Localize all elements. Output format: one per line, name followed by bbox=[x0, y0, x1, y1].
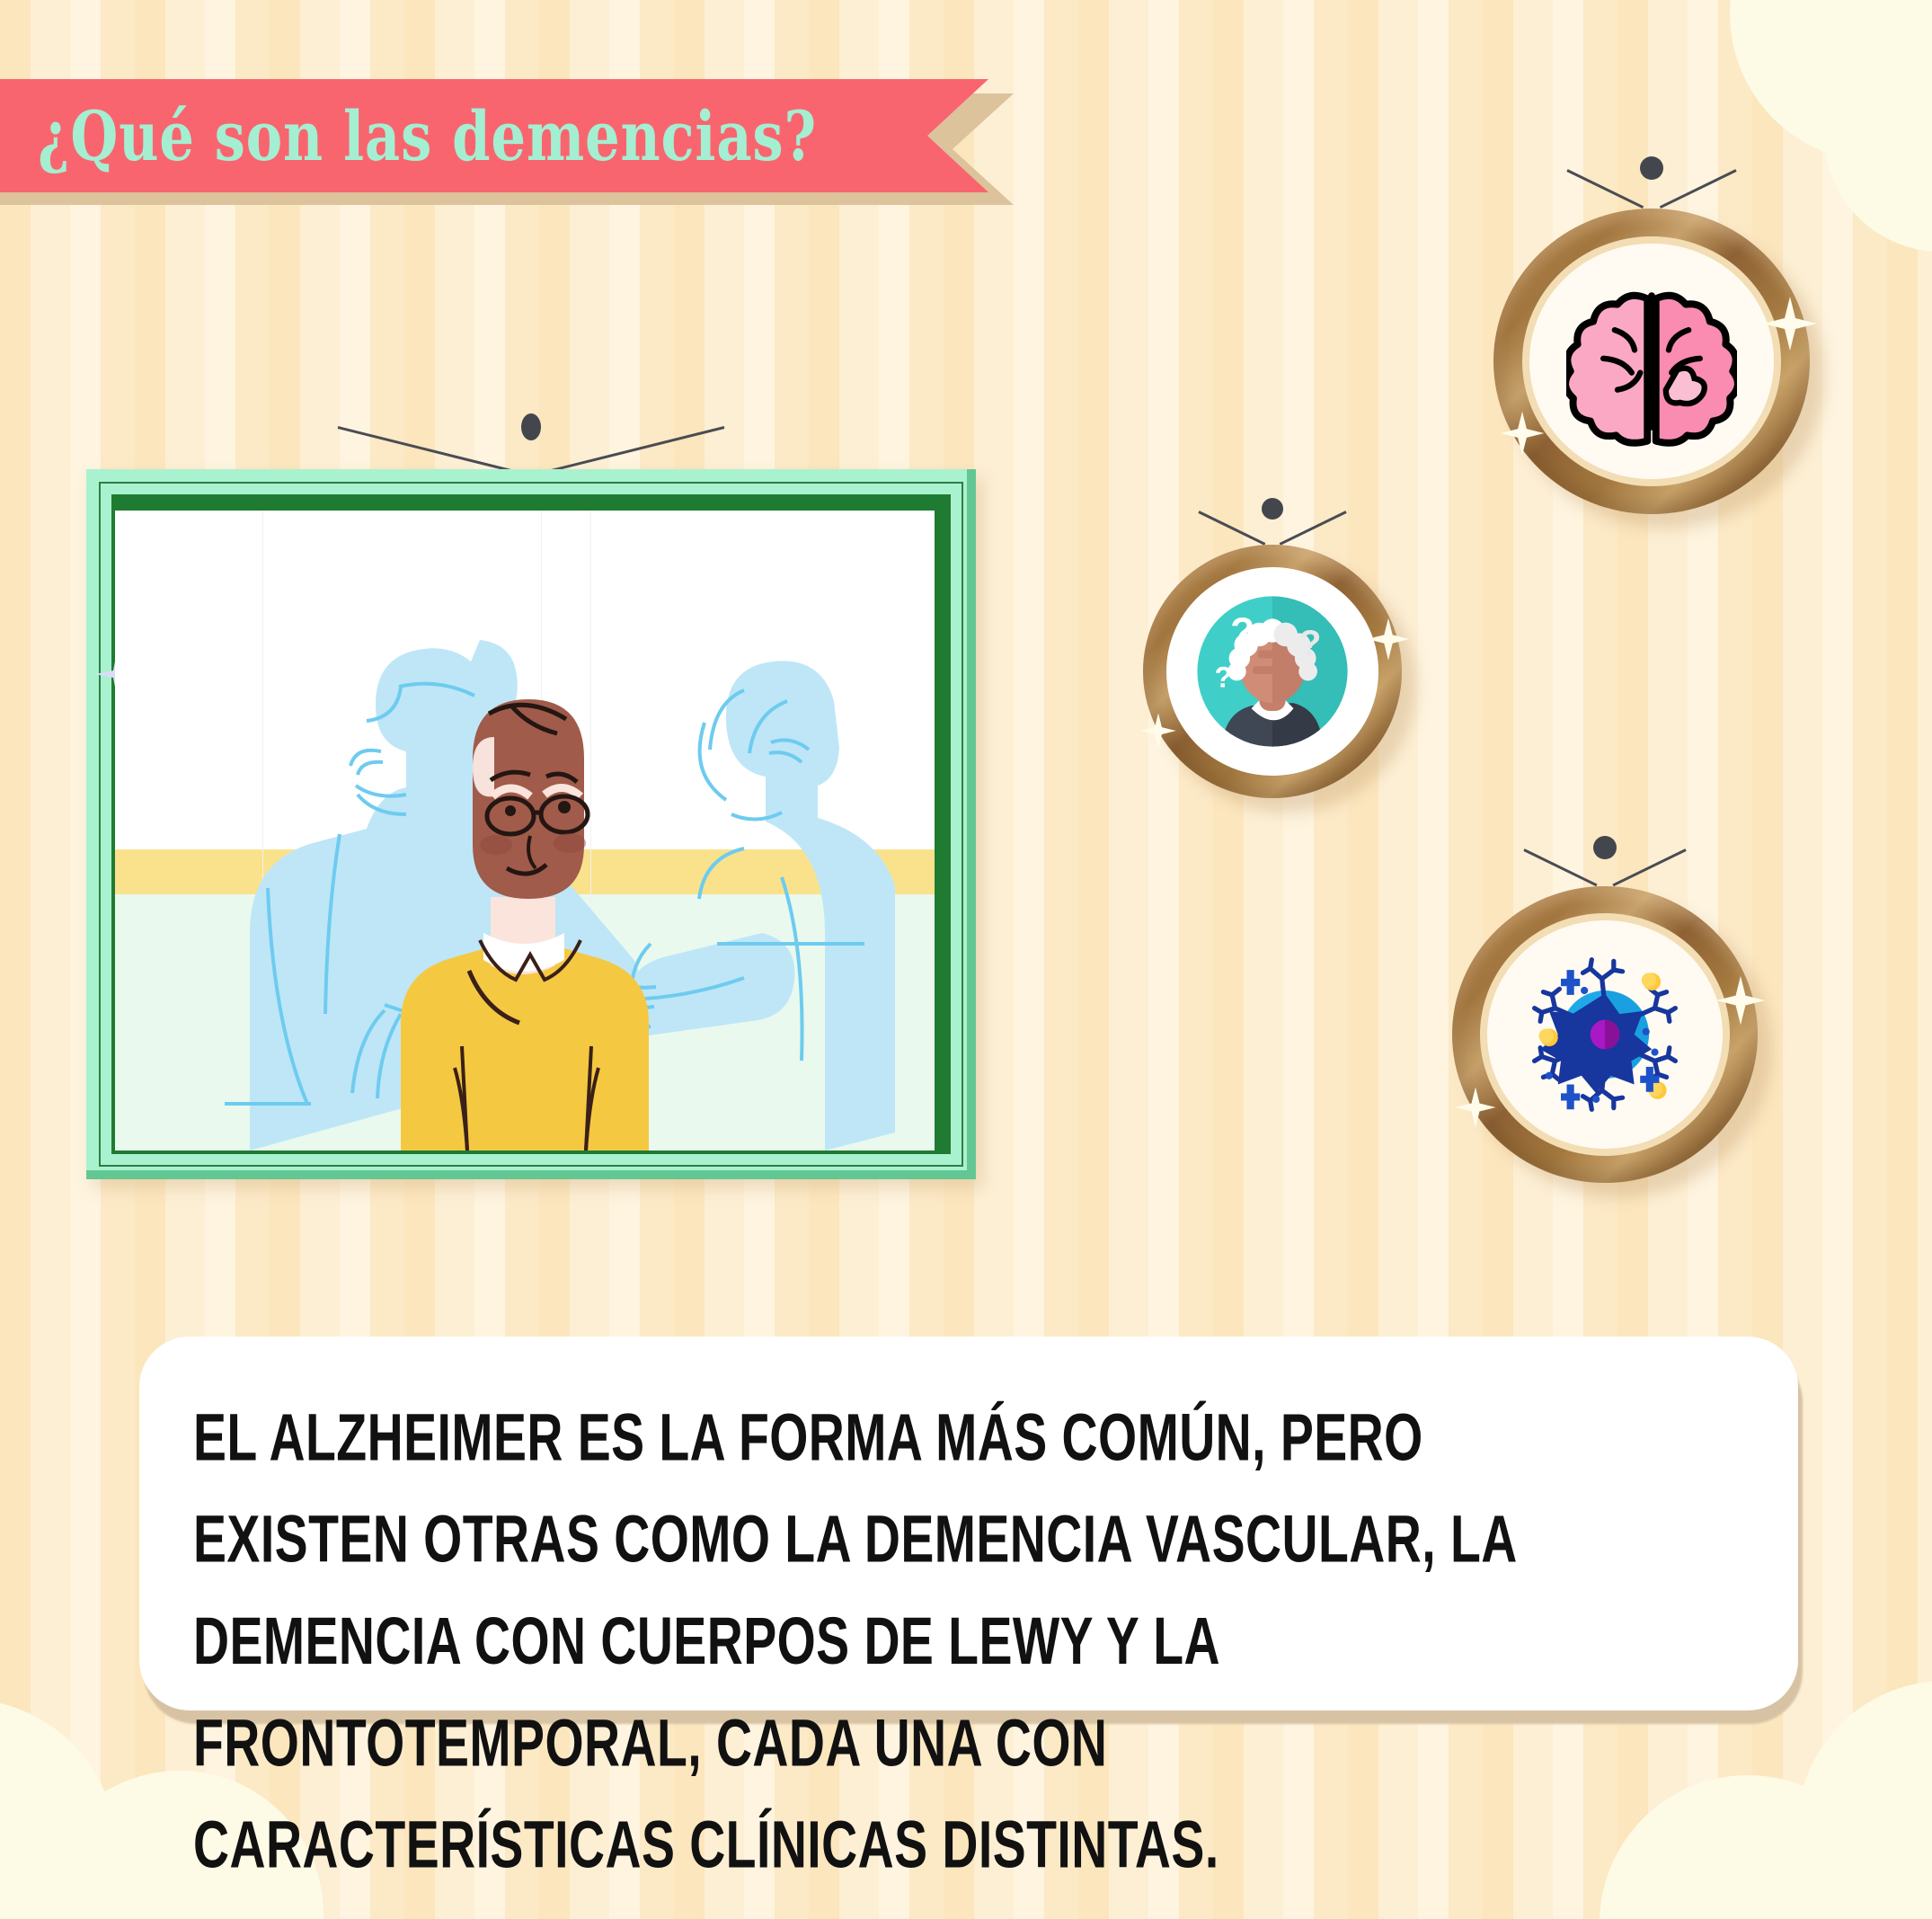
info-card: EL ALZHEIMER ES LA FORMA MÁS COMÚN, PERO… bbox=[139, 1337, 1798, 1710]
svg-text:?: ? bbox=[1230, 610, 1254, 654]
sparkle-icon bbox=[1139, 712, 1177, 750]
oval-frame-brain[interactable] bbox=[1493, 209, 1810, 514]
picture-hook-icon bbox=[1143, 498, 1402, 545]
svg-text:?: ? bbox=[1214, 662, 1232, 694]
sparkle-icon bbox=[1366, 617, 1411, 662]
page-title: ¿Qué son las demencias? bbox=[38, 96, 817, 176]
sparkle-icon bbox=[1761, 295, 1819, 352]
neuron-cell-icon bbox=[1517, 946, 1693, 1123]
confused-elderly-person-icon: ? ? ? bbox=[1193, 592, 1352, 751]
svg-text:?: ? bbox=[1298, 622, 1321, 663]
oval-frame-neuron[interactable] bbox=[1452, 886, 1758, 1183]
info-card-body-text: EL ALZHEIMER ES LA FORMA MÁS COMÚN, PERO… bbox=[193, 1387, 1569, 1896]
main-framed-photo[interactable] bbox=[86, 469, 976, 1179]
title-ribbon: ¿Qué son las demencias? bbox=[0, 79, 988, 192]
sparkle-icon bbox=[1454, 1086, 1497, 1129]
picture-hook-icon bbox=[1452, 836, 1758, 886]
brain-icon bbox=[1566, 276, 1737, 447]
oval-mat bbox=[1487, 920, 1723, 1149]
photo-illustration bbox=[115, 511, 935, 1151]
picture-hook-icon bbox=[1493, 156, 1810, 209]
oval-mat: ? ? ? bbox=[1173, 573, 1372, 768]
oval-mat bbox=[1529, 244, 1773, 479]
sparkle-icon bbox=[1715, 974, 1767, 1026]
oval-frame-confused-person[interactable]: ? ? ? bbox=[1143, 545, 1402, 798]
infographic-canvas: ¿Qué son las demencias? bbox=[0, 0, 1932, 1919]
sparkle-icon bbox=[1499, 410, 1546, 457]
picture-hook-icon bbox=[86, 413, 976, 469]
